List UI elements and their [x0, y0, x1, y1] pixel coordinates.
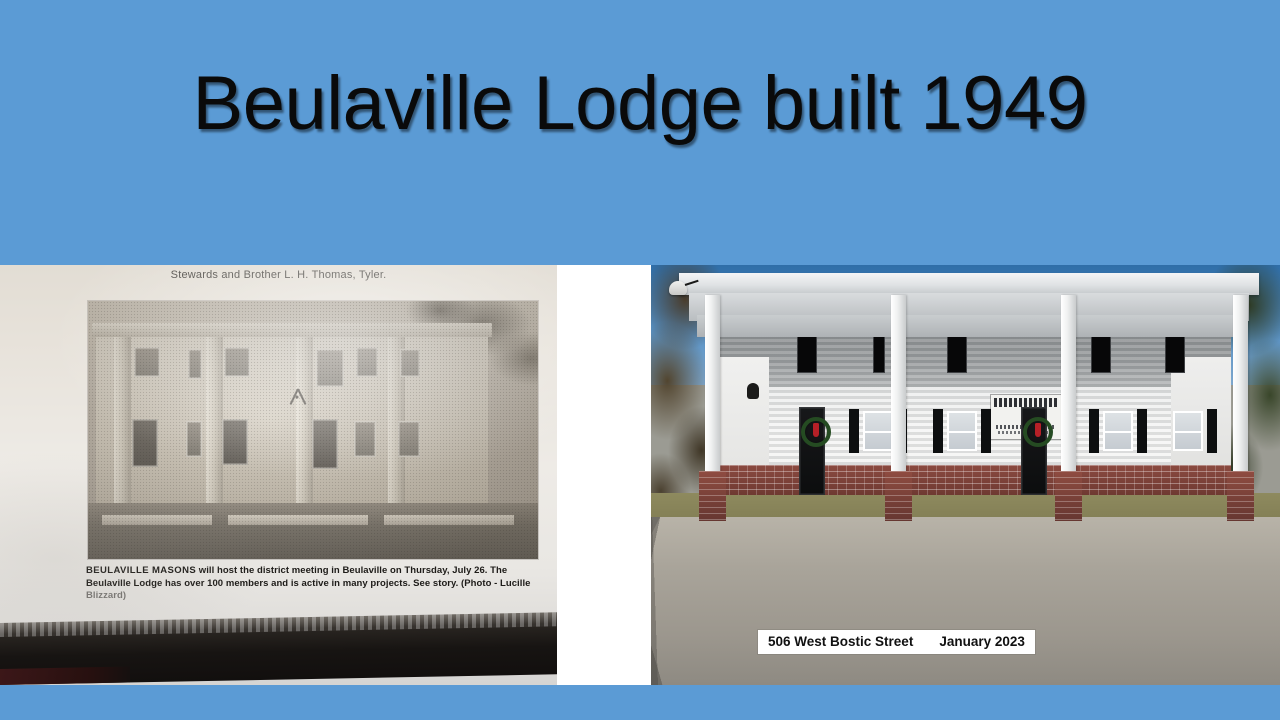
- porch-column: [891, 295, 906, 487]
- photo-band: Stewards and Brother L. H. Thomas, Tyler…: [0, 265, 1280, 685]
- wall-lamp-icon: [747, 383, 759, 399]
- porch-column: [1233, 295, 1248, 487]
- tree-shadows: [651, 517, 1280, 685]
- table-edge-accent: [0, 667, 130, 685]
- porch-ceiling: [697, 315, 1242, 337]
- wreath-icon: [1023, 417, 1053, 447]
- page-title: Beulaville Lodge built 1949: [0, 56, 1280, 152]
- slide: Beulaville Lodge built 1949 Stewards and…: [0, 0, 1280, 720]
- window-shutter: [1207, 409, 1217, 453]
- column-base: [1227, 471, 1254, 521]
- wreath-icon: [801, 417, 831, 447]
- table-edge: [0, 612, 557, 685]
- clipping-vignette: [88, 301, 538, 559]
- clipping-building-image: [88, 301, 538, 559]
- window-shutter: [981, 409, 991, 453]
- lower-window: [947, 411, 977, 451]
- lower-window: [1103, 411, 1133, 451]
- lower-window: [1173, 411, 1203, 451]
- entry-door-right: [1021, 407, 1047, 495]
- window-shutter: [849, 409, 859, 453]
- caption-address: 506 West Bostic Street: [768, 634, 913, 649]
- street-caption: 506 West Bostic StreetJanuary 2023: [758, 630, 1035, 654]
- column-base: [885, 471, 912, 521]
- porch-column: [705, 295, 720, 487]
- window-shutter: [933, 409, 943, 453]
- brick-foundation: [711, 465, 1231, 495]
- caption-date: January 2023: [939, 634, 1025, 649]
- lower-window: [863, 411, 893, 451]
- newspaper-clipping-photo: Stewards and Brother L. H. Thomas, Tyler…: [0, 265, 557, 685]
- porch-column: [1061, 295, 1076, 487]
- entry-door-left: [799, 407, 825, 495]
- roofline: [679, 273, 1259, 295]
- lodge-sign-title: [994, 398, 1058, 407]
- window-shutter: [1137, 409, 1147, 453]
- column-base: [1055, 471, 1082, 521]
- column-base: [699, 471, 726, 521]
- current-lodge-photo: 506 West Bostic StreetJanuary 2023: [651, 265, 1280, 685]
- porch-lamp-icon: [669, 281, 687, 295]
- window-shutter: [1089, 409, 1099, 453]
